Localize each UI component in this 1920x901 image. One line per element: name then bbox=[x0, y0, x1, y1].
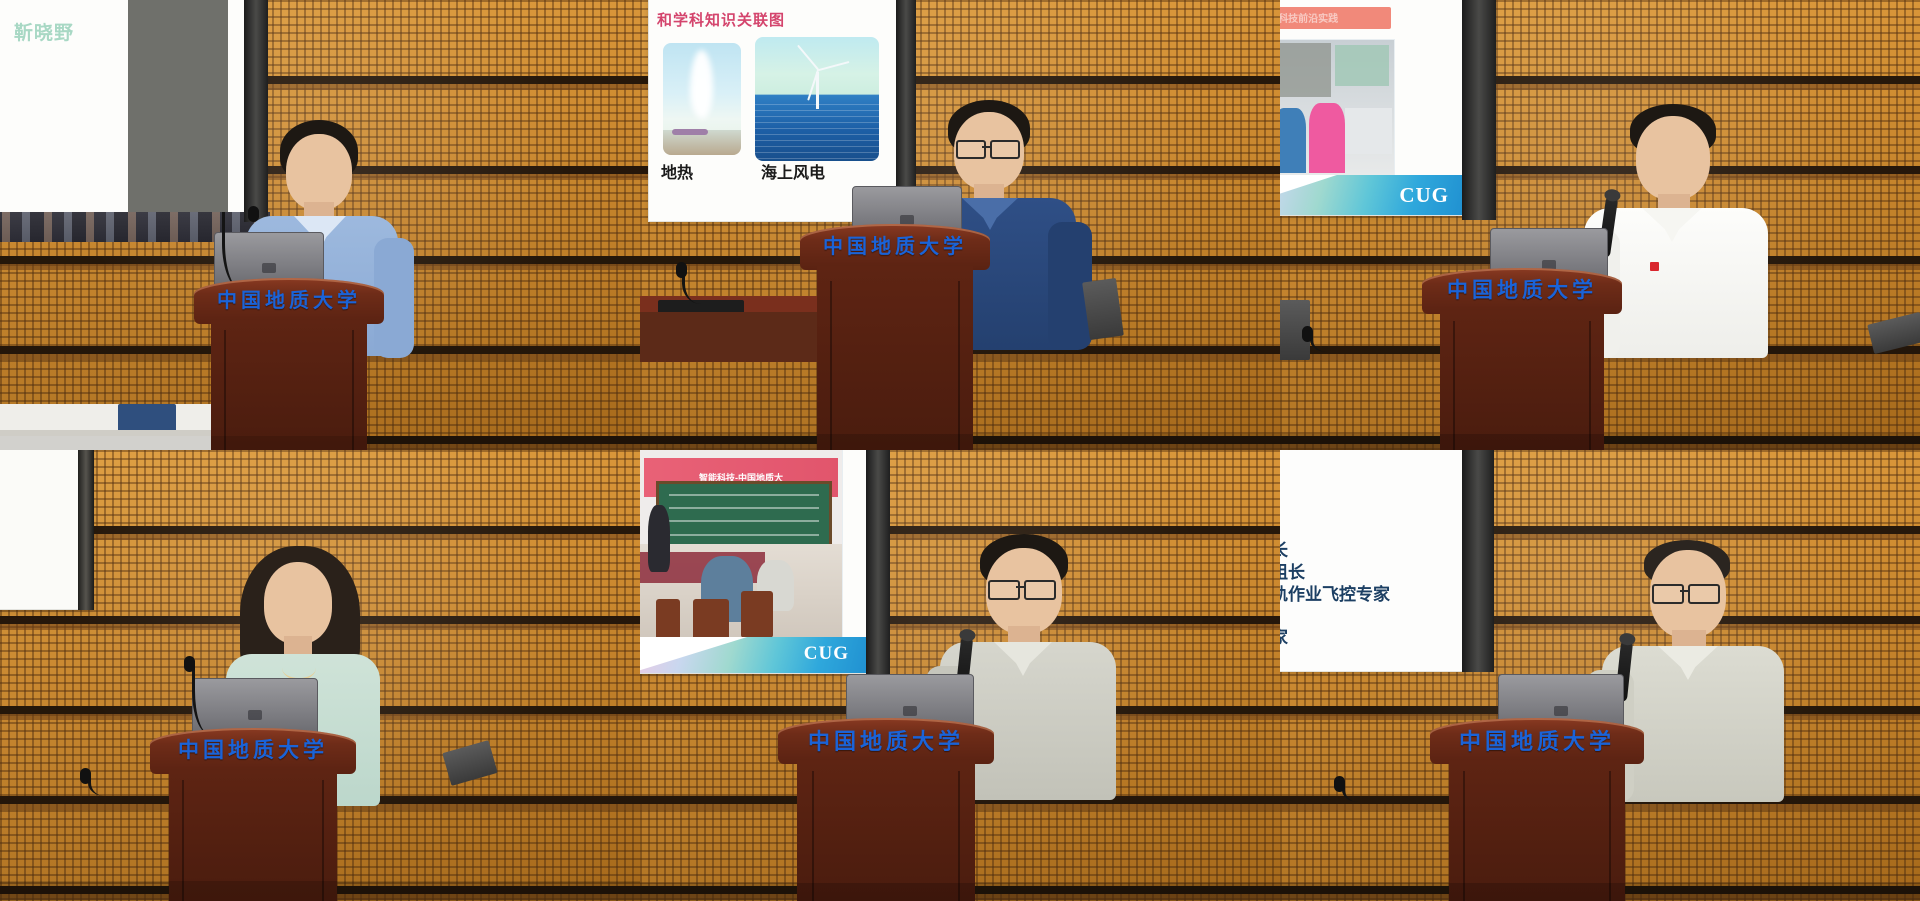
band-white-wedge bbox=[1280, 175, 1371, 215]
slide-line-4: 家 bbox=[1280, 606, 1390, 628]
glasses-bridge bbox=[982, 146, 990, 148]
photo-person-blue bbox=[1280, 108, 1306, 173]
podium-label: 中国地质大学 bbox=[1422, 274, 1622, 304]
glasses-left-lens bbox=[956, 140, 986, 159]
podium: 中国地质大学 bbox=[778, 718, 994, 901]
pipeline bbox=[672, 129, 708, 135]
blackboard bbox=[656, 481, 832, 554]
photo-person-pink bbox=[1309, 103, 1346, 174]
glasses-bridge bbox=[1016, 586, 1024, 588]
projection-screen: 智能科技-中国地质大 bbox=[640, 450, 872, 674]
desk-front bbox=[640, 312, 820, 362]
head bbox=[264, 562, 332, 644]
photo-panel-top-right[interactable]: 科技前沿实践 科研实践 CUG bbox=[1280, 0, 1920, 450]
band-white-wedge bbox=[640, 637, 780, 673]
chalk-line-2 bbox=[669, 507, 818, 509]
mic-head bbox=[80, 768, 91, 784]
photo-panel-top-left[interactable]: 靳晓野 bbox=[0, 0, 640, 450]
slide-title: 和学科知识关联图 bbox=[657, 9, 785, 30]
mic-head bbox=[676, 262, 687, 278]
necklace bbox=[282, 656, 316, 680]
slide-thumb-geothermal bbox=[663, 43, 741, 155]
slide-text-list: 队组长 队副组长 统在轨作业飞控专家 家 组专家 bbox=[1280, 541, 1390, 650]
chair-3 bbox=[741, 591, 773, 638]
cug-logo-text: CUG bbox=[1399, 183, 1449, 208]
standing-presenter bbox=[648, 505, 670, 572]
photo-panel-bottom-center[interactable]: 智能科技-中国地质大 bbox=[640, 450, 1280, 901]
mic-head bbox=[1334, 776, 1345, 792]
laptop-logo bbox=[262, 263, 276, 273]
slide-thumb-offshore-wind bbox=[755, 37, 879, 161]
chair-1 bbox=[656, 599, 680, 642]
head bbox=[1636, 116, 1710, 200]
party-emblem-pin bbox=[1650, 262, 1659, 271]
photo-tree bbox=[1280, 43, 1331, 97]
slide-banner-top: 科技前沿实践 bbox=[1280, 7, 1391, 29]
glasses-left-lens bbox=[988, 580, 1020, 600]
floor-shadow bbox=[0, 436, 640, 450]
slide-caption-geothermal: 地热 bbox=[661, 159, 693, 183]
mic-head bbox=[1302, 326, 1313, 342]
steam-plume bbox=[690, 50, 713, 119]
podium-body bbox=[1440, 310, 1604, 450]
slide-line-1: 队组长 bbox=[1280, 541, 1390, 563]
podium-body bbox=[1449, 760, 1625, 901]
slide-footer-band: CUG bbox=[1280, 175, 1467, 215]
floor bbox=[1280, 434, 1920, 450]
glasses-right-lens bbox=[1024, 580, 1056, 600]
laptop-logo bbox=[1554, 706, 1568, 716]
glasses-left-lens bbox=[1652, 584, 1684, 604]
podium: 中国地质大学 bbox=[1422, 268, 1622, 450]
podium-label: 中国地质大学 bbox=[778, 724, 994, 756]
slide-caption-offshore-wind: 海上风电 bbox=[761, 159, 825, 183]
glasses-bridge bbox=[1680, 590, 1688, 592]
wall-pillar bbox=[1462, 450, 1494, 672]
laptop-logo bbox=[248, 710, 262, 720]
turbine-blade-3 bbox=[818, 61, 850, 72]
podium-label: 中国地质大学 bbox=[150, 734, 356, 764]
podium-body bbox=[817, 266, 973, 450]
sea-surface bbox=[755, 104, 879, 161]
photo-equipment bbox=[1345, 108, 1391, 154]
podium: 中国地质大学 bbox=[150, 728, 356, 901]
slide-line-2: 队副组长 bbox=[1280, 563, 1390, 585]
photo-panel-top-center[interactable]: 和学科知识关联图 地热 海上风电 bbox=[640, 0, 1280, 450]
slide-banner-top-label: 科技前沿实践 bbox=[1280, 10, 1338, 25]
slide-line-3: 统在轨作业飞控专家 bbox=[1280, 585, 1390, 607]
podium: 中国地质大学 bbox=[194, 278, 384, 450]
floor bbox=[640, 434, 1280, 450]
podium-label: 中国地质大学 bbox=[1430, 724, 1644, 756]
podium-body bbox=[797, 760, 974, 901]
floor bbox=[1280, 883, 1920, 901]
podium: 中国地质大学 bbox=[1430, 718, 1644, 901]
chalk-line-1 bbox=[669, 494, 818, 496]
floor bbox=[640, 883, 1280, 901]
turbine-blade-2 bbox=[797, 45, 820, 71]
chalk-line-3 bbox=[669, 520, 818, 522]
screen-right-edge bbox=[78, 450, 94, 610]
screen-dark-panel bbox=[128, 0, 228, 216]
slide-line-5: 组专家 bbox=[1280, 628, 1390, 650]
photo-panel-bottom-left[interactable]: 中国地质大学 bbox=[0, 450, 640, 901]
podium-body bbox=[211, 320, 367, 450]
cug-logo-text: CUG bbox=[804, 643, 849, 665]
glasses-right-lens bbox=[990, 140, 1020, 159]
mic-head bbox=[184, 656, 195, 672]
mic-head bbox=[248, 206, 259, 222]
wall-pillar bbox=[1462, 0, 1496, 220]
glasses-right-lens bbox=[1688, 584, 1720, 604]
slide-footer-band: CUG bbox=[640, 637, 871, 673]
projection-screen: 科技前沿实践 科研实践 CUG bbox=[1280, 0, 1468, 216]
photo-collage: 靳晓野 bbox=[0, 0, 1920, 901]
photo-sign-board bbox=[1335, 45, 1389, 86]
projection-screen: 队组长 队副组长 统在轨作业飞控专家 家 组专家 bbox=[1280, 450, 1468, 672]
wall-pillar bbox=[866, 450, 890, 674]
head bbox=[286, 134, 352, 210]
photo-panel-bottom-right[interactable]: 队组长 队副组长 统在轨作业飞控专家 家 组专家 bbox=[1280, 450, 1920, 901]
slide-photo-card bbox=[1280, 39, 1395, 177]
chalk-line-4 bbox=[669, 534, 818, 536]
podium-label: 中国地质大学 bbox=[800, 230, 990, 259]
podium-label: 中国地质大学 bbox=[194, 284, 384, 313]
slide-photo-card: 智能科技-中国地质大 bbox=[640, 450, 843, 647]
watermark-text: 靳晓野 bbox=[14, 18, 74, 45]
floor bbox=[0, 881, 640, 901]
laptop-logo bbox=[903, 706, 917, 716]
podium: 中国地质大学 bbox=[800, 224, 990, 450]
